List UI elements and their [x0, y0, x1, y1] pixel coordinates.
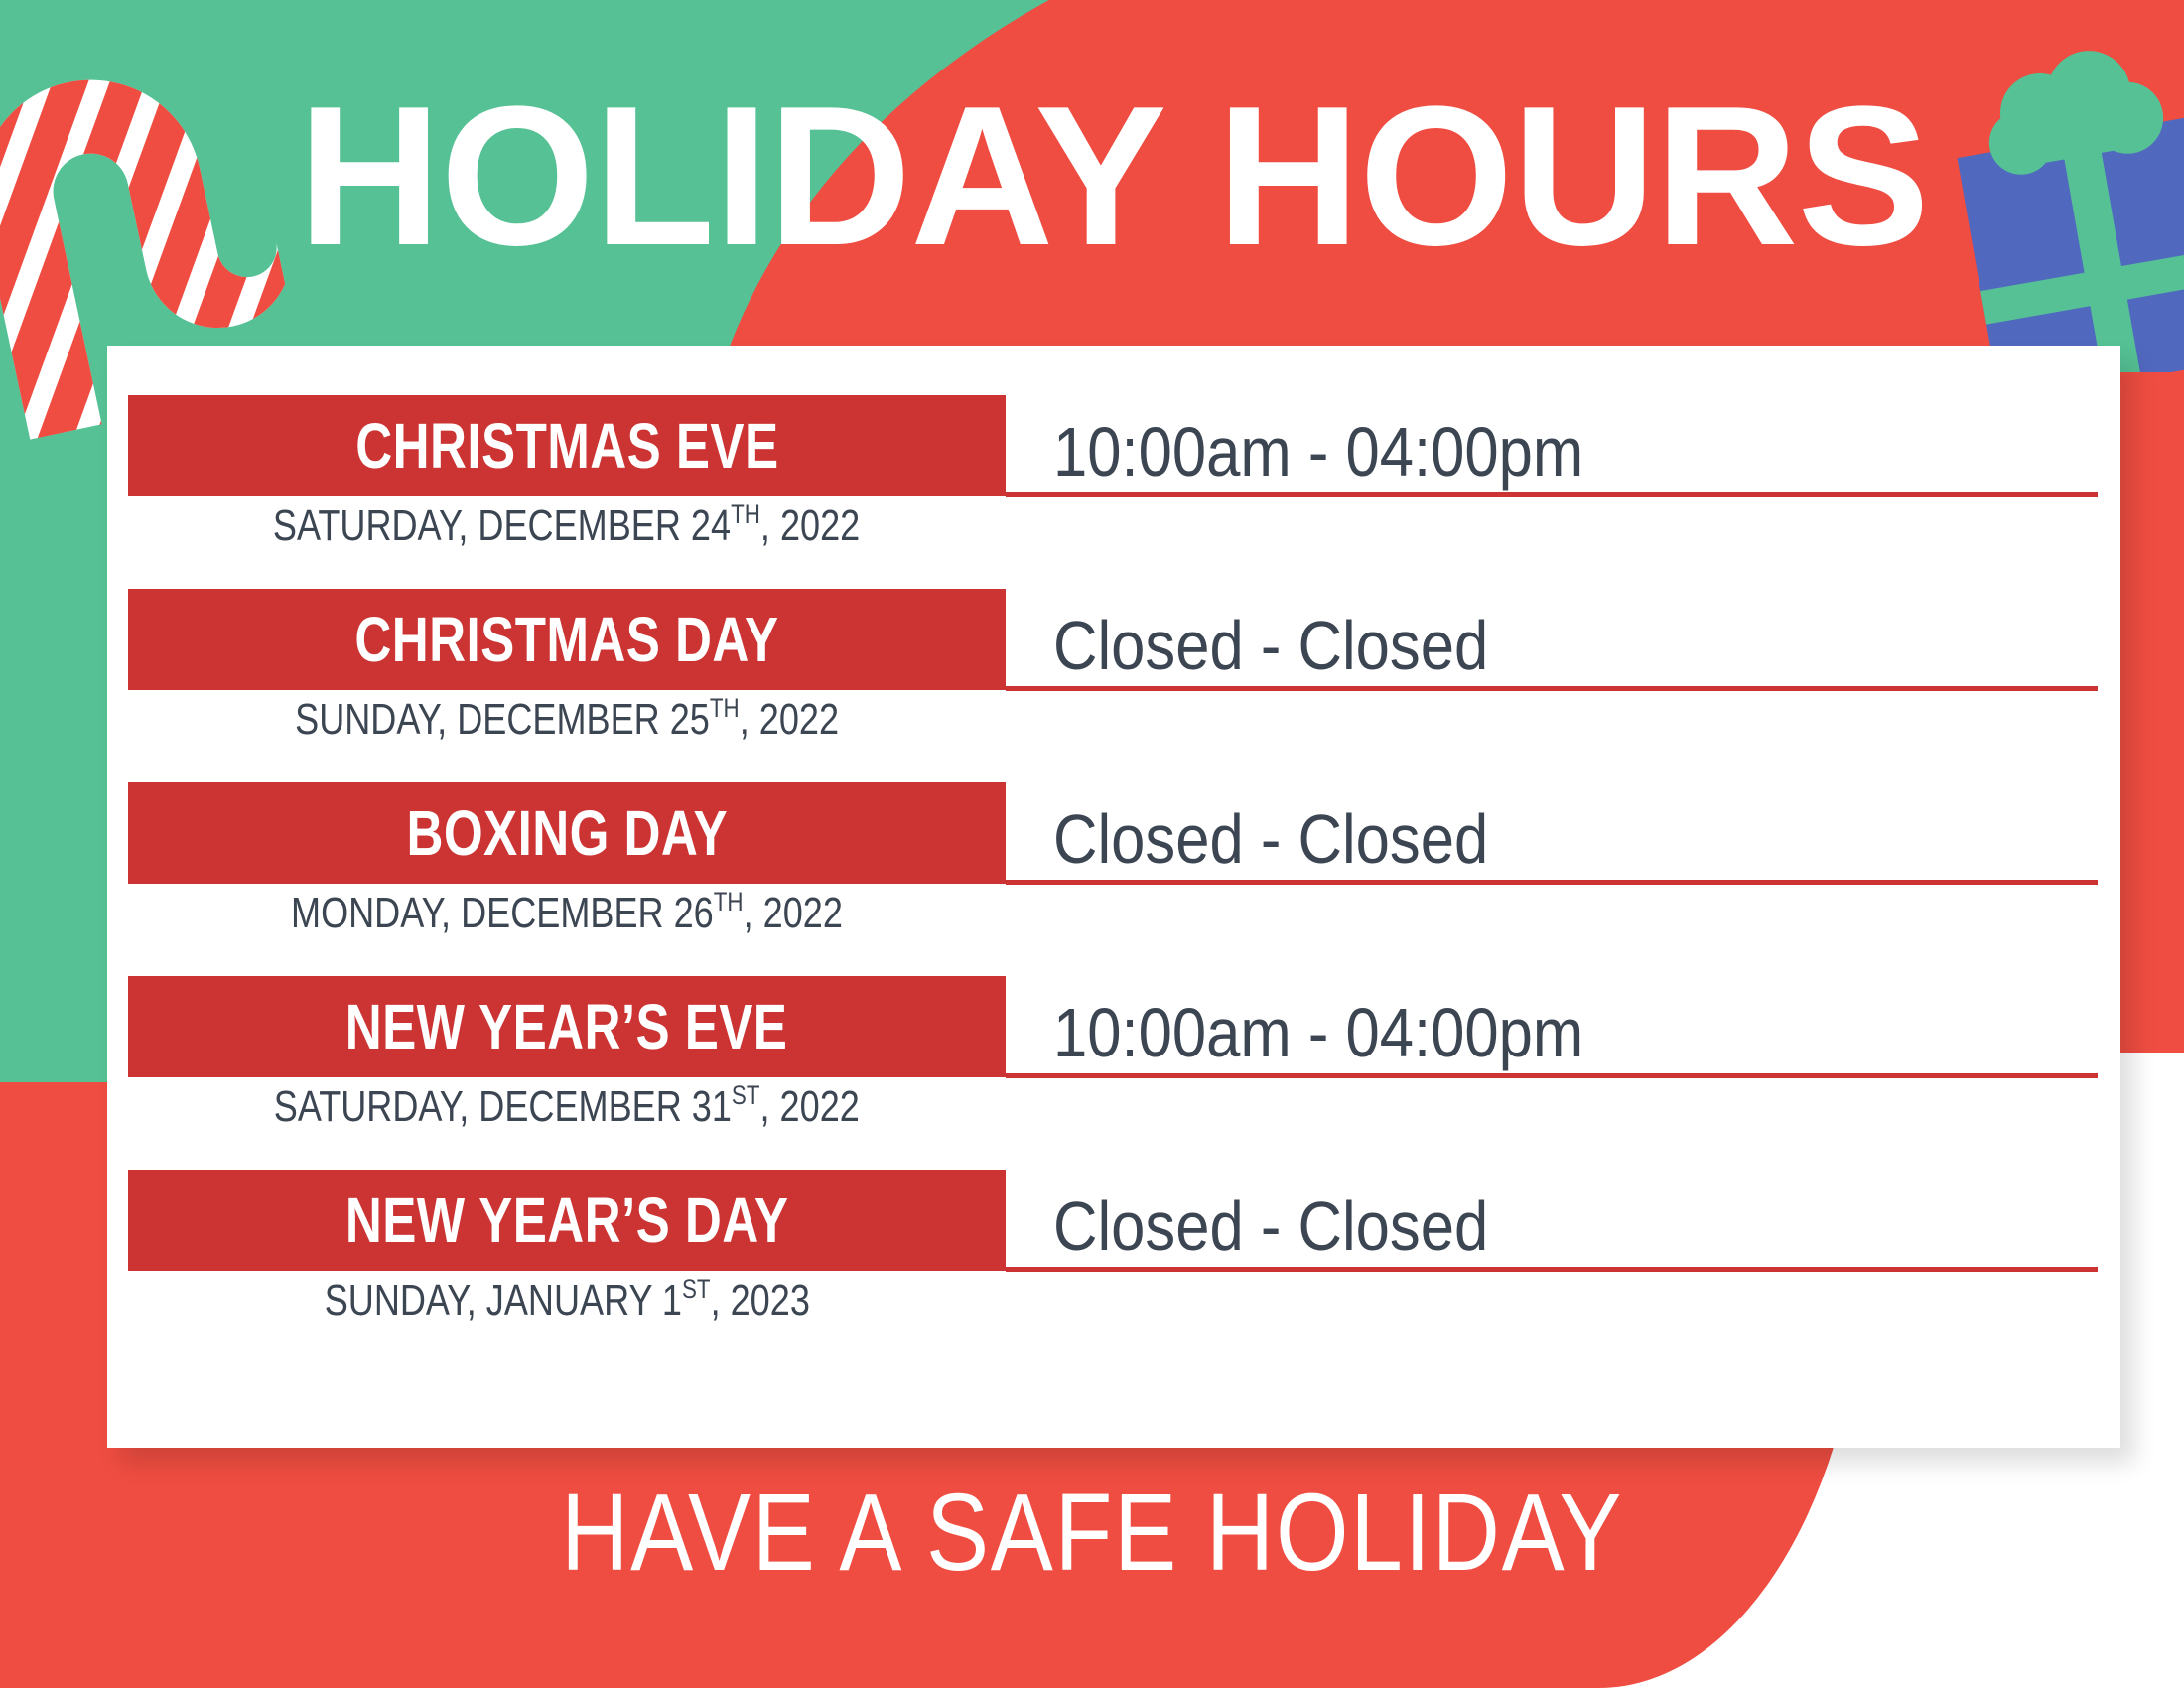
holiday-label-bar: NEW YEAR’S DAY	[128, 1170, 1006, 1271]
hours-value: Closed - Closed	[1053, 606, 1548, 685]
holiday-date: SATURDAY, DECEMBER 24TH, 2022	[128, 498, 1006, 551]
holiday-date: SATURDAY, DECEMBER 31ST, 2022	[128, 1079, 1006, 1132]
holiday-hours-cell: Closed - Closed	[1006, 1156, 2098, 1272]
hours-value: 10:00am - 04:00pm	[1053, 993, 1656, 1072]
holiday-name: NEW YEAR’S DAY	[345, 1184, 789, 1257]
table-row: CHRISTMAS EVE SATURDAY, DECEMBER 24TH, 2…	[107, 395, 2120, 590]
holiday-name: CHRISTMAS DAY	[354, 603, 778, 676]
holiday-label-bar: CHRISTMAS DAY	[128, 589, 1006, 690]
holiday-hours-cell: Closed - Closed	[1006, 769, 2098, 885]
holiday-date: SUNDAY, JANUARY 1ST, 2023	[128, 1273, 1006, 1326]
holiday-hours-cell: Closed - Closed	[1006, 575, 2098, 691]
hours-underline	[1006, 686, 2098, 691]
hours-value: 10:00am - 04:00pm	[1053, 412, 1656, 492]
holiday-name: NEW YEAR’S EVE	[345, 990, 788, 1063]
holiday-date: SUNDAY, DECEMBER 25TH, 2022	[128, 692, 1006, 745]
holiday-label-bar: CHRISTMAS EVE	[128, 395, 1006, 496]
holiday-hours-cell: 10:00am - 04:00pm	[1006, 962, 2098, 1078]
footer-message: HAVE A SAFE HOLIDAY	[0, 1470, 2184, 1596]
page-title: HOLIDAY HOURS	[298, 77, 2005, 276]
holiday-date: MONDAY, DECEMBER 26TH, 2022	[128, 886, 1006, 938]
hours-underline	[1006, 492, 2098, 497]
holiday-label-bar: NEW YEAR’S EVE	[128, 976, 1006, 1077]
holiday-name: CHRISTMAS EVE	[355, 409, 778, 483]
hours-underline	[1006, 1073, 2098, 1078]
holiday-hours-poster: HOLIDAY HOURS CHRISTMAS EVE SATURDAY, DE…	[0, 0, 2184, 1688]
hours-card: CHRISTMAS EVE SATURDAY, DECEMBER 24TH, 2…	[107, 346, 2120, 1448]
table-row: CHRISTMAS DAY SUNDAY, DECEMBER 25TH, 202…	[107, 589, 2120, 783]
holiday-hours-cell: 10:00am - 04:00pm	[1006, 381, 2098, 497]
table-row: BOXING DAY MONDAY, DECEMBER 26TH, 2022 C…	[107, 782, 2120, 977]
hours-value: Closed - Closed	[1053, 799, 1548, 879]
footer-text: HAVE A SAFE HOLIDAY	[561, 1470, 1623, 1596]
table-row: NEW YEAR’S DAY SUNDAY, JANUARY 1ST, 2023…	[107, 1170, 2120, 1364]
holiday-label-bar: BOXING DAY	[128, 782, 1006, 884]
holiday-name: BOXING DAY	[406, 796, 728, 870]
hours-value: Closed - Closed	[1053, 1187, 1548, 1266]
hours-table: CHRISTMAS EVE SATURDAY, DECEMBER 24TH, 2…	[107, 346, 2120, 1448]
hours-underline	[1006, 1267, 2098, 1272]
hours-underline	[1006, 880, 2098, 885]
table-row: NEW YEAR’S EVE SATURDAY, DECEMBER 31ST, …	[107, 976, 2120, 1171]
